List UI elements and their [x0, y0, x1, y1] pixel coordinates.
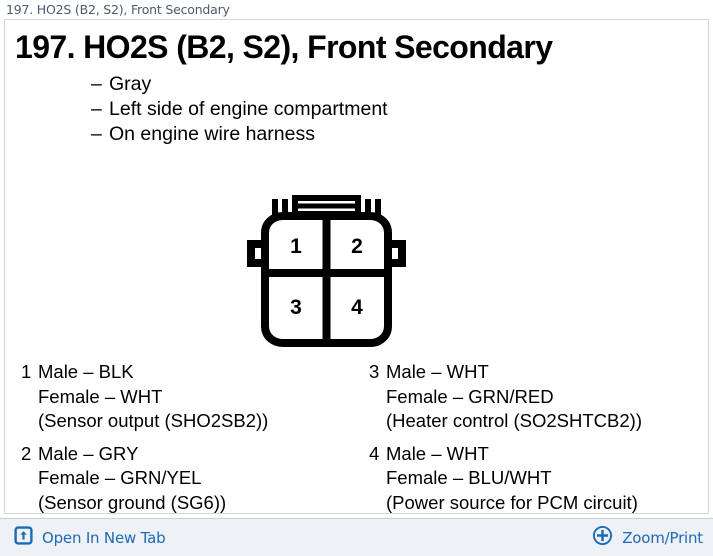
list-item: –Gray — [91, 72, 708, 97]
page-title: 197. HO2S (B2, S2), Front Secondary — [15, 29, 708, 66]
zoom-print-button[interactable]: Zoom/Print — [592, 525, 703, 551]
pin-circuit: (Sensor ground (SG6)) — [38, 491, 226, 515]
pin-female-wire: Female – BLU/WHT — [386, 466, 638, 491]
dash-marker: – — [91, 72, 109, 97]
open-in-new-tab-label: Open In New Tab — [42, 529, 165, 547]
pin-assignment-table: 1 Male – BLK Female – WHT (Sensor output… — [5, 360, 709, 514]
pin-detail: Male – WHT Female – GRN/RED (Heater cont… — [386, 360, 642, 434]
pin-circuit: (Heater control (SO2SHTCB2)) — [386, 409, 642, 434]
cavity-number-3: 3 — [290, 296, 302, 319]
pin-column-right: 3 Male – WHT Female – GRN/RED (Heater co… — [357, 360, 709, 514]
dash-marker: – — [91, 122, 109, 147]
list-item: 1 Male – BLK Female – WHT (Sensor output… — [21, 360, 357, 434]
list-item-label: Gray — [109, 73, 151, 95]
list-item-label: On engine wire harness — [109, 123, 315, 145]
cavity-number-2: 2 — [351, 235, 363, 258]
pin-female-wire: Female – GRN/YEL — [38, 466, 226, 491]
list-item-label: Left side of engine compartment — [109, 98, 388, 120]
cavity-number-1: 1 — [290, 235, 302, 258]
open-in-new-tab-button[interactable]: Open In New Tab — [14, 526, 165, 550]
circle-plus-icon — [592, 525, 613, 551]
pin-number: 1 — [21, 360, 38, 434]
pin-detail: Male – WHT Female – BLU/WHT (Power sourc… — [386, 442, 638, 515]
pin-detail: Male – GRY Female – GRN/YEL (Sensor grou… — [38, 442, 226, 515]
viewer-toolbar: Open In New Tab Zoom/Print — [0, 518, 713, 556]
pin-male-wire: Male – WHT — [386, 360, 642, 385]
list-item: 3 Male – WHT Female – GRN/RED (Heater co… — [369, 360, 709, 434]
pin-number: 3 — [369, 360, 386, 434]
cavity-number-4: 4 — [351, 296, 363, 319]
pin-circuit: (Sensor output (SHO2SB2)) — [38, 409, 268, 434]
breadcrumb: 197. HO2S (B2, S2), Front Secondary — [6, 2, 230, 17]
list-item: 2 Male – GRY Female – GRN/YEL (Sensor gr… — [21, 442, 357, 515]
pin-male-wire: Male – WHT — [386, 442, 638, 467]
breadcrumb-bar: 197. HO2S (B2, S2), Front Secondary — [0, 0, 713, 18]
pin-number: 2 — [21, 442, 38, 515]
external-link-icon — [14, 526, 33, 550]
pin-column-left: 1 Male – BLK Female – WHT (Sensor output… — [5, 360, 357, 514]
pin-number: 4 — [369, 442, 386, 515]
pin-detail: Male – BLK Female – WHT (Sensor output (… — [38, 360, 268, 434]
document-viewer: 197. HO2S (B2, S2), Front Secondary –Gra… — [4, 19, 709, 514]
list-item: 4 Male – WHT Female – BLU/WHT (Power sou… — [369, 442, 709, 515]
connector-notes-list: –Gray –Left side of engine compartment –… — [91, 72, 708, 147]
pin-female-wire: Female – GRN/RED — [386, 385, 642, 410]
connector-drawing: 1 2 3 4 — [237, 188, 417, 360]
dash-marker: – — [91, 97, 109, 122]
zoom-print-label: Zoom/Print — [622, 529, 703, 547]
pin-female-wire: Female – WHT — [38, 385, 268, 410]
pin-circuit: (Power source for PCM circuit) — [386, 491, 638, 515]
pin-male-wire: Male – GRY — [38, 442, 226, 467]
connector-diagram: 1 2 3 4 — [237, 188, 417, 360]
list-item: –Left side of engine compartment — [91, 97, 708, 122]
pin-male-wire: Male – BLK — [38, 360, 268, 385]
list-item: –On engine wire harness — [91, 122, 708, 147]
